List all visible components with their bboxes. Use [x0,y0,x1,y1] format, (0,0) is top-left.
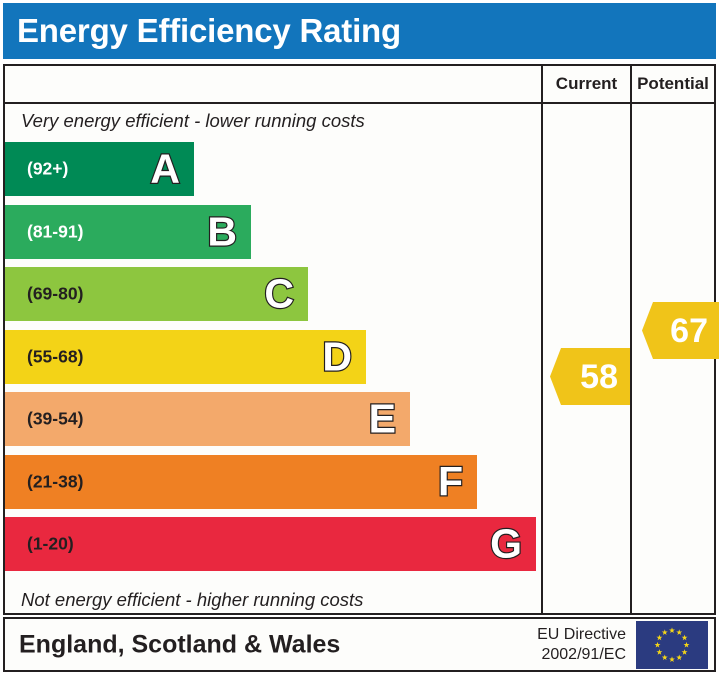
footer-region-label: England, Scotland & Wales [19,630,340,659]
chart-table: Current Potential Very energy efficient … [3,64,716,615]
eu-flag-stars-icon [636,621,708,669]
header-row-separator [5,102,714,104]
band-range: (55-68) [27,346,83,367]
band-row: (1-20) G [5,517,536,571]
energy-efficiency-rating-chart: Energy Efficiency Rating Current Potenti… [0,0,719,675]
potential-rating-arrow: 67 [642,302,719,359]
title-banner: Energy Efficiency Rating [3,3,716,59]
band-row: (21-38) F [5,455,477,509]
column-header-potential: Potential [632,66,714,102]
band-row: (69-80) C [5,267,308,321]
current-rating-arrow: 58 [550,348,630,405]
footer-directive: EU Directive 2002/91/EC [537,625,626,665]
band-letter: D [322,336,352,377]
band-letter: F [438,461,463,502]
potential-rating-value: 67 [670,314,719,348]
band-row: (92+) A [5,142,194,196]
band-list: (92+) A (81-91) B (69-80) C (55-68) D (3… [5,142,541,582]
band-range: (21-38) [27,471,83,492]
band-row: (55-68) D [5,330,366,384]
footer-bar: England, Scotland & Wales EU Directive 2… [3,617,716,672]
band-letter: E [369,399,396,440]
eu-flag-icon [636,621,708,669]
footer-directive-line1: EU Directive [537,625,626,645]
band-range: (92+) [27,159,68,180]
band-letter: C [264,274,294,315]
footer-directive-line2: 2002/91/EC [537,645,626,665]
band-range: (1-20) [27,534,74,555]
band-range: (69-80) [27,284,83,305]
current-rating-value: 58 [580,360,630,394]
band-row: (39-54) E [5,392,410,446]
page-title: Energy Efficiency Rating [17,12,401,50]
column-divider-current [541,66,543,613]
caption-efficient: Very energy efficient - lower running co… [21,110,365,132]
column-divider-potential [630,66,632,613]
band-row: (81-91) B [5,205,251,259]
band-letter: G [490,524,522,565]
band-letter: A [150,149,180,190]
band-range: (81-91) [27,221,83,242]
band-range: (39-54) [27,409,83,430]
caption-inefficient: Not energy efficient - higher running co… [21,589,363,611]
band-letter: B [207,211,237,252]
column-header-current: Current [543,66,630,102]
